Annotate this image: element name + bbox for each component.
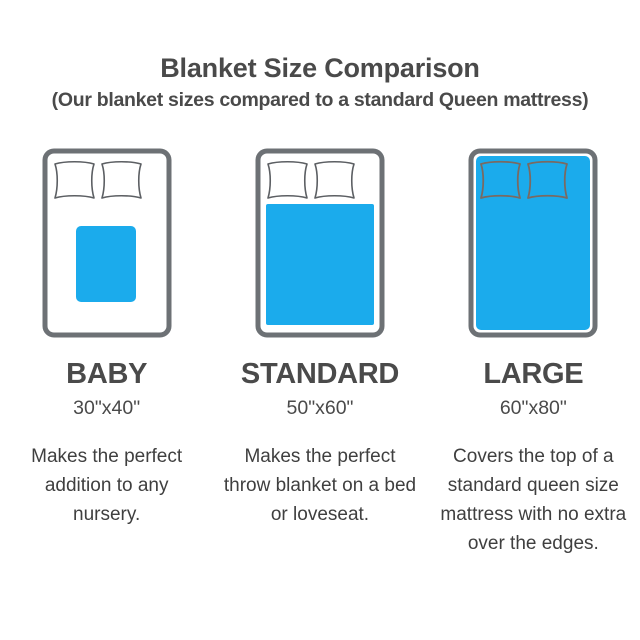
comparison-column-standard: STANDARD 50"x60" Makes the perfect throw… [213,148,426,529]
size-dimensions-large: 60"x80" [500,396,567,420]
size-name-standard: STANDARD [241,358,399,390]
size-description-baby: Makes the perfect addition to any nurser… [9,442,205,529]
size-dimensions-standard: 50"x60" [287,396,354,420]
pillow-icon [315,162,354,198]
pillow-icon [55,162,94,198]
bed-diagram-large [468,148,598,340]
blanket-shape-baby [76,226,136,302]
pillow-icon [102,162,141,198]
blanket-shape-standard [266,204,374,325]
bed-diagram-baby [42,148,172,340]
comparison-columns: BABY 30"x40" Makes the perfect addition … [0,148,640,558]
blanket-size-comparison-infographic: Blanket Size Comparison (Our blanket siz… [0,0,640,640]
size-description-large: Covers the top of a standard queen size … [435,442,631,558]
comparison-column-large: LARGE 60"x80" Covers the top of a standa… [427,148,640,558]
page-title: Blanket Size Comparison [0,52,640,84]
size-description-standard: Makes the perfect throw blanket on a bed… [222,442,418,529]
comparison-column-baby: BABY 30"x40" Makes the perfect addition … [0,148,213,529]
pillow-icon [268,162,307,198]
blanket-shape-large [476,156,590,330]
size-dimensions-baby: 30"x40" [73,396,140,420]
bed-diagram-standard [255,148,385,340]
size-name-large: LARGE [483,358,583,390]
page-subtitle: (Our blanket sizes compared to a standar… [0,87,640,113]
header: Blanket Size Comparison (Our blanket siz… [0,52,640,113]
size-name-baby: BABY [66,358,147,390]
